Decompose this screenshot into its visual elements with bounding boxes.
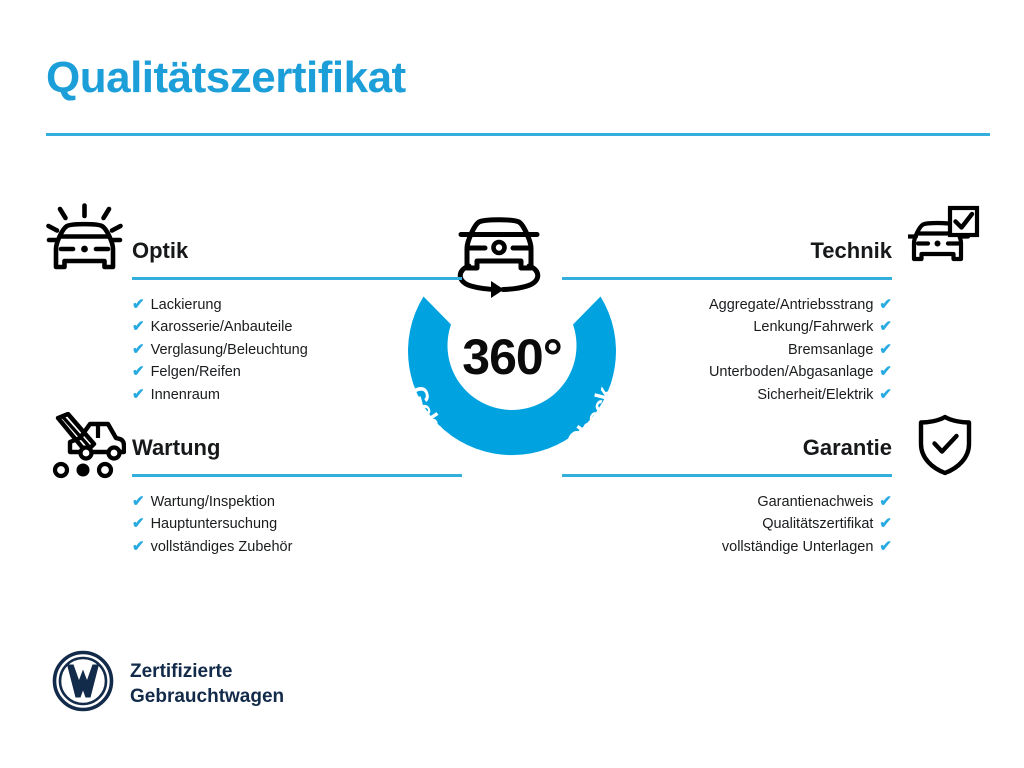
check-icon: ✔ [132,341,145,358]
checklist-wartung: ✔Wartung/Inspektion ✔Hauptuntersuchung ✔… [132,491,462,558]
check-icon: ✔ [879,318,892,335]
checklist-optik: ✔Lackierung ✔Karosserie/Anbauteile ✔Verg… [132,294,462,406]
list-item-label: vollständiges Zubehör [151,539,293,555]
list-item: vollständige Unterlagen✔ [562,536,892,558]
check-icon: ✔ [879,296,892,313]
checklist-garantie: Garantienachweis✔ Qualitätszertifikat✔ v… [562,491,892,558]
list-item-label: Aggregate/Antriebsstrang [709,297,873,313]
list-item: ✔Innenraum [132,384,462,406]
list-item-label: Felgen/Reifen [151,364,241,380]
section-header: Technik [562,236,892,280]
brand-lockup: Zertifizierte Gebrauchtwagen [52,650,284,717]
check-icon: ✔ [132,493,145,510]
list-item: ✔Felgen/Reifen [132,361,462,383]
check-icon: ✔ [879,341,892,358]
check-icon: ✔ [879,363,892,380]
check-icon: ✔ [132,318,145,335]
section-divider [132,474,462,477]
check-icon: ✔ [879,515,892,532]
list-item: ✔Hauptuntersuchung [132,513,462,535]
list-item: Lenkung/Fahrwerk✔ [562,316,892,338]
section-divider [562,474,892,477]
check-icon: ✔ [132,296,145,313]
page-title: Qualitätszertifikat [46,54,406,102]
list-item: Qualitätszertifikat✔ [562,513,892,535]
list-item: Bremsanlage✔ [562,339,892,361]
section-header: Wartung [132,433,462,477]
list-item-label: Bremsanlage [788,342,873,358]
section-title-technik: Technik [562,236,892,266]
check-icon: ✔ [132,363,145,380]
car-checkbox-icon [908,205,980,272]
list-item-label: Qualitätszertifikat [762,516,873,532]
list-item: Sicherheit/Elektrik✔ [562,384,892,406]
checklist-technik: Aggregate/Antriebsstrang✔ Lenkung/Fahrwe… [562,294,892,406]
list-item: ✔Verglasung/Beleuchtung [132,339,462,361]
list-item-label: Hauptuntersuchung [151,516,278,532]
list-item: ✔Wartung/Inspektion [132,491,462,513]
section-title-garantie: Garantie [562,433,892,463]
section-title-optik: Optik [132,236,462,266]
list-item-label: Verglasung/Beleuchtung [151,342,308,358]
section-garantie: Garantie Garantienachweis✔ Qualitätszert… [562,433,892,558]
list-item: Aggregate/Antriebsstrang✔ [562,294,892,316]
section-header: Optik [132,236,462,280]
section-technik: Technik Aggregate/Antriebsstrang✔ Lenkun… [562,236,892,406]
section-wartung: Wartung ✔Wartung/Inspektion ✔Hauptunters… [132,433,462,558]
list-item: ✔Lackierung [132,294,462,316]
list-item-label: Garantienachweis [757,494,873,510]
check-icon: ✔ [132,538,145,555]
check-icon: ✔ [132,515,145,532]
check-icon: ✔ [879,386,892,403]
header-divider [46,133,990,136]
volkswagen-logo-icon [52,650,114,717]
shield-check-icon [916,414,974,481]
check-icon: ✔ [879,538,892,555]
section-divider [132,277,462,280]
list-item-label: Innenraum [151,387,220,403]
section-title-wartung: Wartung [132,433,462,463]
list-item-label: Lenkung/Fahrwerk [753,319,873,335]
list-item: ✔vollständiges Zubehör [132,536,462,558]
section-header: Garantie [562,433,892,477]
car-shine-icon [46,203,124,284]
brand-text: Zertifizierte Gebrauchtwagen [130,659,284,709]
section-divider [562,277,892,280]
list-item-label: Lackierung [151,297,222,313]
list-item-label: Sicherheit/Elektrik [757,387,873,403]
list-item-label: Wartung/Inspektion [151,494,275,510]
list-item-label: Karosserie/Anbauteile [151,319,293,335]
pencil-car-service-icon [46,412,126,485]
list-item: Unterboden/Abgasanlage✔ [562,361,892,383]
check-icon: ✔ [879,493,892,510]
list-item: ✔Karosserie/Anbauteile [132,316,462,338]
section-optik: Optik ✔Lackierung ✔Karosserie/Anbauteile… [132,236,462,406]
check-icon: ✔ [132,386,145,403]
list-item-label: vollständige Unterlagen [722,539,874,555]
list-item: Garantienachweis✔ [562,491,892,513]
list-item-label: Unterboden/Abgasanlage [709,364,873,380]
